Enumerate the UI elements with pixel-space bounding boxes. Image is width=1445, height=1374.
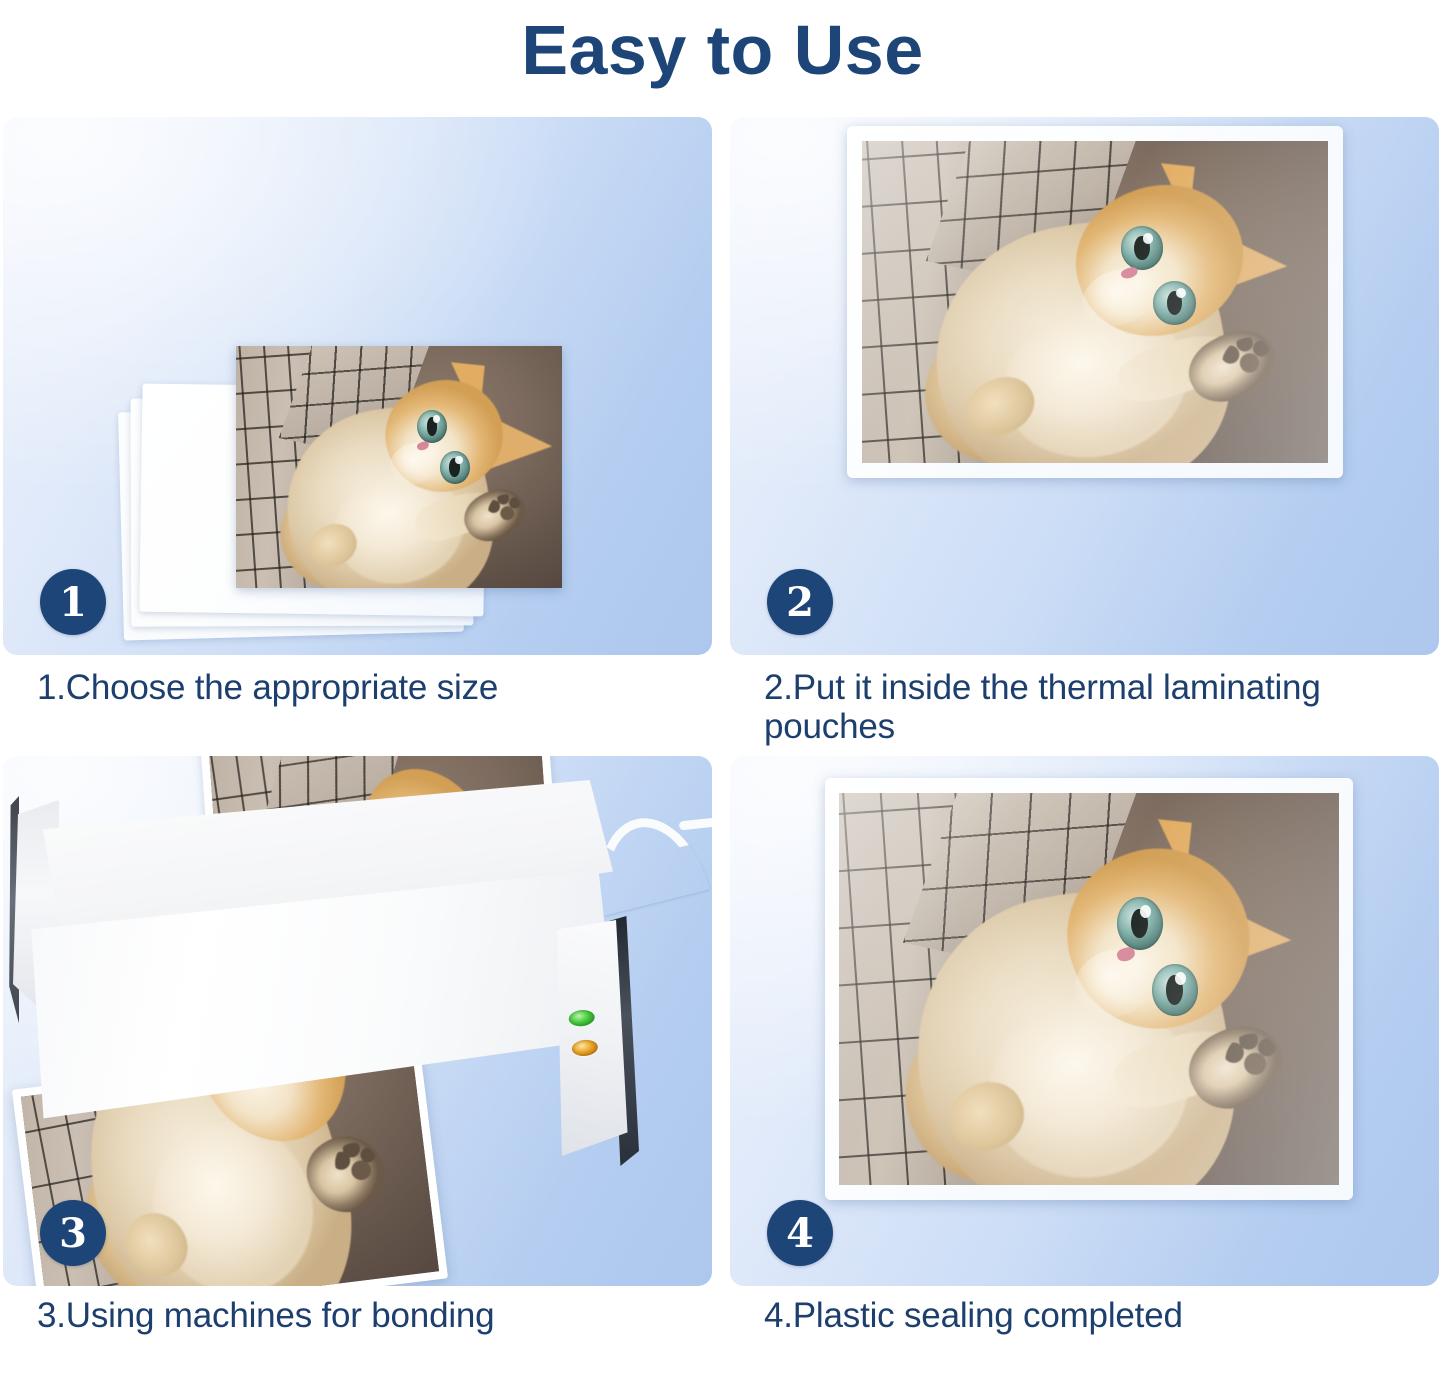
kitten-eye-left bbox=[1117, 897, 1163, 950]
step-badge-1: 1 bbox=[40, 569, 106, 635]
kitten-eye-right bbox=[440, 451, 470, 484]
eye-glint bbox=[455, 456, 462, 464]
kitten-eye-right bbox=[1152, 964, 1198, 1017]
kitten-photo-4 bbox=[839, 793, 1339, 1185]
kitten-eye-left bbox=[417, 410, 447, 443]
step-badge-4: 4 bbox=[767, 1200, 833, 1266]
step-badge-3: 3 bbox=[40, 1200, 106, 1266]
kitten-photo-1 bbox=[236, 346, 562, 588]
eye-glint bbox=[1176, 288, 1186, 298]
step-card-1: 1 1.Choose the appropriate size bbox=[3, 100, 721, 748]
step-panel-4: 4 bbox=[730, 756, 1439, 1286]
laminating-pouch-2 bbox=[847, 126, 1343, 478]
step-caption-3: 3.Using machines for bonding bbox=[37, 1296, 697, 1335]
kitten-eye-left bbox=[1121, 226, 1164, 269]
kitten-eye-right bbox=[1153, 281, 1196, 324]
step-caption-2: 2.Put it inside the thermal laminating p… bbox=[764, 668, 1424, 746]
eye-glint bbox=[1175, 972, 1186, 985]
steps-grid: 1 1.Choose the appropriate size bbox=[0, 100, 1445, 1374]
step-panel-2: 2 bbox=[730, 117, 1439, 655]
eye-glint bbox=[1140, 905, 1151, 918]
header: Easy to Use bbox=[0, 0, 1445, 100]
step-panel-3: 3 bbox=[3, 756, 712, 1286]
power-cord-tail bbox=[679, 815, 712, 831]
kitten-photo-2 bbox=[862, 141, 1328, 463]
step-card-4: 4 4.Plastic sealing completed bbox=[730, 748, 1445, 1374]
step-badge-2: 2 bbox=[767, 569, 833, 635]
eye-glint bbox=[1143, 233, 1153, 243]
step-caption-1: 1.Choose the appropriate size bbox=[37, 668, 697, 707]
laminator-scene bbox=[3, 756, 712, 1286]
step-card-3: 3 3.Using machines for bonding bbox=[3, 748, 721, 1374]
step-panel-1: 1 bbox=[3, 117, 712, 655]
eye-glint bbox=[433, 415, 440, 423]
power-led bbox=[568, 1009, 596, 1028]
step-card-2: 2 2.Put it inside the thermal laminating… bbox=[730, 100, 1445, 748]
thermal-laminator-machine bbox=[9, 774, 633, 1186]
step-caption-4: 4.Plastic sealing completed bbox=[764, 1296, 1424, 1335]
ready-led bbox=[571, 1039, 599, 1058]
page-title: Easy to Use bbox=[521, 15, 923, 85]
laminated-result bbox=[825, 778, 1353, 1200]
